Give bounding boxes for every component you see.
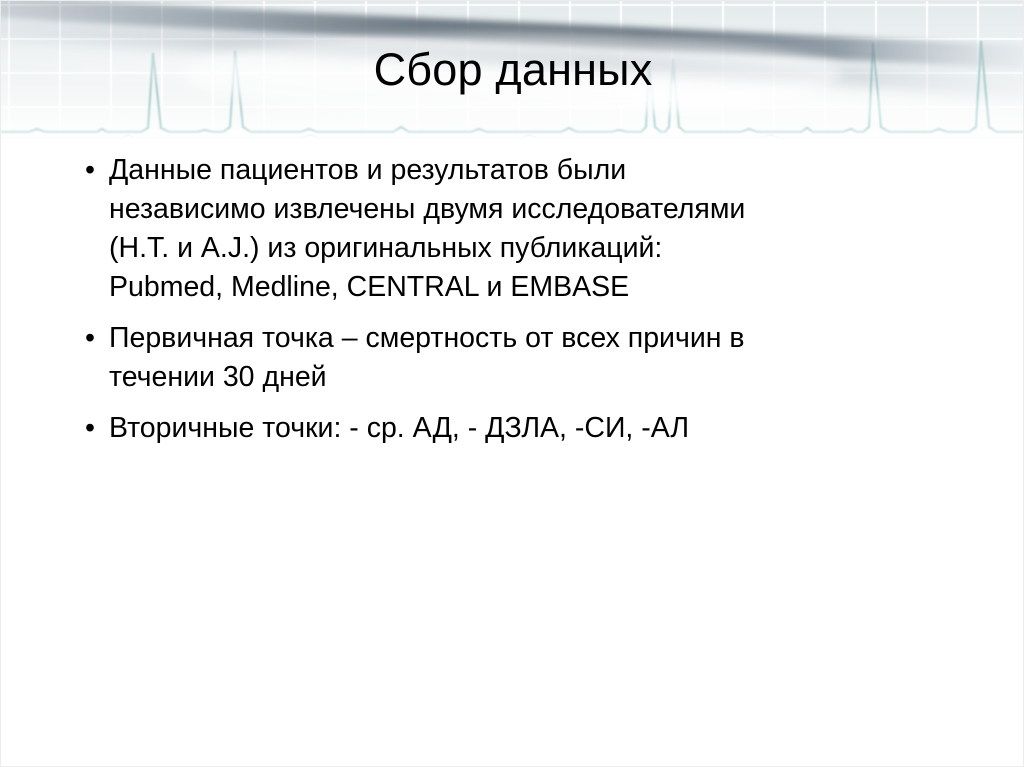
slide-body: • Данные пациентов и результатов были не… [73, 151, 963, 448]
bullet-item-1: • Данные пациентов и результатов были не… [73, 151, 963, 307]
page-title: Сбор данных [1, 43, 1024, 97]
bullet-dot-icon: • [85, 151, 105, 190]
bullet-dot-icon: • [85, 409, 105, 448]
bullet-text-3: Вторичные точки: - ср. АД, - ДЗЛА, -СИ, … [109, 409, 963, 448]
bullet-text-2: Первичная точка – смертность от всех при… [109, 319, 963, 397]
bullet-item-2: • Первичная точка – смертность от всех п… [73, 319, 963, 397]
banner-bottom-fade [1, 97, 1024, 140]
presentation-slide: Сбор данных • Данные пациентов и результ… [0, 0, 1024, 767]
bullet-item-3: • Вторичные точки: - ср. АД, - ДЗЛА, -СИ… [73, 409, 963, 448]
bullet-text-1: Данные пациентов и результатов были неза… [109, 151, 963, 307]
bullet-dot-icon: • [85, 319, 105, 358]
header-banner: Сбор данных [1, 1, 1024, 140]
